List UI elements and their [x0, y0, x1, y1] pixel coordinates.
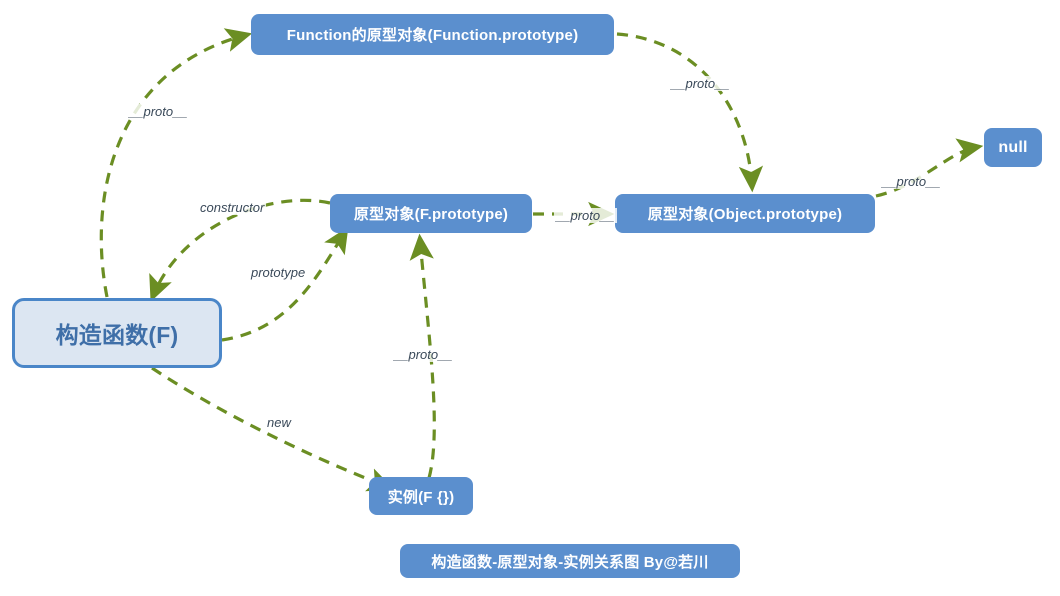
edge-label-object-prototype-to-null: __proto__ [880, 174, 943, 189]
node-f-prototype-label: 原型对象(F.prototype) [354, 203, 508, 224]
node-object-prototype[interactable]: 原型对象(Object.prototype) [615, 194, 875, 233]
node-constructor-f[interactable]: 构造函数(F) [12, 298, 222, 368]
node-instance-f-label: 实例(F {}) [388, 486, 455, 507]
node-diagram-title: 构造函数-原型对象-实例关系图 By@若川 [400, 544, 740, 578]
node-f-prototype[interactable]: 原型对象(F.prototype) [330, 194, 532, 233]
node-null[interactable]: null [984, 128, 1042, 167]
edge-label-text: constructor [200, 200, 264, 215]
node-null-label: null [998, 139, 1027, 157]
node-function-prototype-label: Function的原型对象(Function.prototype) [287, 24, 579, 45]
edge-label-function-prototype-to-object-prototype: __proto__ [669, 76, 732, 91]
edge-label-f-prototype-to-f: constructor [198, 200, 266, 215]
edge-label-text: __proto__ [882, 174, 941, 189]
edge-f-to-function-prototype [101, 35, 246, 297]
edge-label-f-to-function-prototype: __proto__ [127, 104, 190, 119]
edge-function-prototype-to-object-prototype [617, 34, 752, 186]
edge-label-f-prototype-to-object-prototype: __proto__ [554, 208, 617, 223]
edge-f-to-f-prototype [222, 232, 345, 340]
edge-label-instance-to-f-prototype: __proto__ [392, 347, 455, 362]
edge-label-text: __proto__ [129, 104, 188, 119]
edge-label-text: __proto__ [556, 208, 615, 223]
diagram-canvas: Function.prototype --> Object.prototype … [0, 0, 1060, 596]
node-constructor-f-label: 构造函数(F) [56, 316, 179, 350]
edge-label-text: __proto__ [394, 347, 453, 362]
edge-label-text: prototype [251, 265, 305, 280]
node-instance-f[interactable]: 实例(F {}) [369, 477, 473, 515]
edge-label-text: __proto__ [671, 76, 730, 91]
diagram-title-label: 构造函数-原型对象-实例关系图 By@若川 [431, 551, 708, 572]
edge-label-text: new [267, 415, 291, 430]
edge-label-f-to-instance: new [265, 415, 293, 430]
node-object-prototype-label: 原型对象(Object.prototype) [648, 203, 842, 224]
node-function-prototype[interactable]: Function的原型对象(Function.prototype) [251, 14, 614, 55]
edge-label-f-to-f-prototype: prototype [249, 265, 307, 280]
